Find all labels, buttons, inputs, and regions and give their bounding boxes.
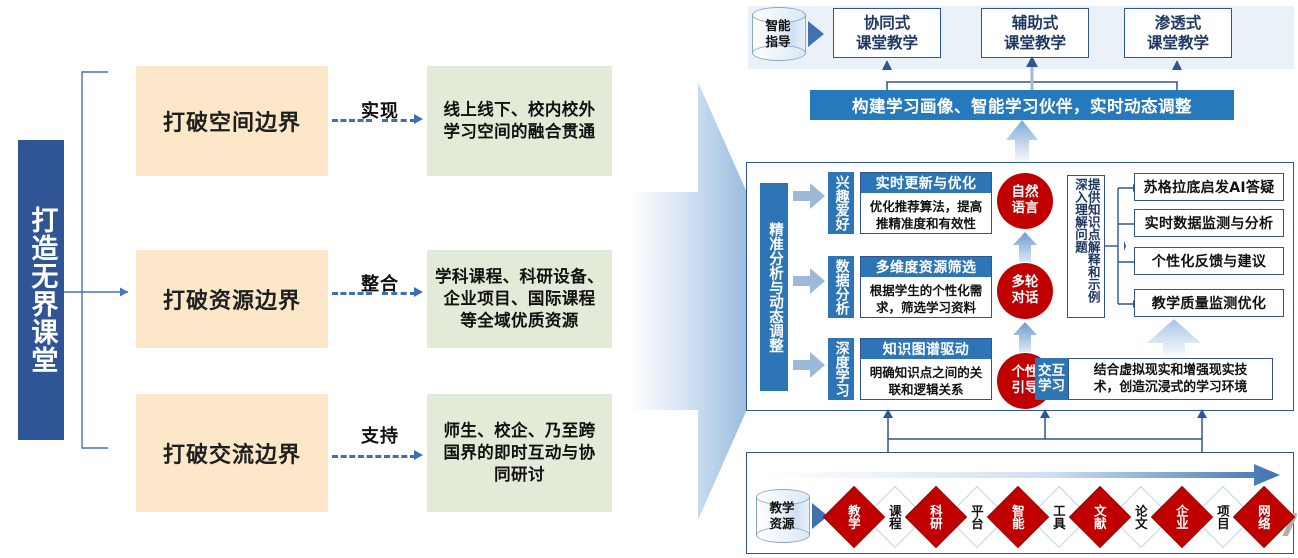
mid-left-bar-label: 精准分析与动态调整	[760, 183, 788, 391]
resource-diamond-3[interactable]: 科研	[905, 486, 967, 548]
output-box-2[interactable]: 实时数据监测与分析	[1134, 209, 1284, 237]
fat-arrow-icon-1	[793, 183, 825, 209]
relation-dash-right-1	[382, 119, 416, 122]
stage-card-2[interactable]: 多维度资源筛选 根据学生的个性化需 求，筛选学习资料	[860, 256, 992, 318]
resource-row: 教学课程科研平台智能工具文献论文企业项目网络	[832, 494, 1288, 540]
interactive-up-arrow-icon	[1145, 319, 1203, 359]
teaching-mode-box-3[interactable]: 渗透式 课堂教学	[1124, 8, 1232, 58]
resource-diamond-label: 教学	[847, 505, 860, 530]
relation-arrowhead-2	[414, 287, 423, 297]
stage-card-body-2: 根据学生的个性化需 求，筛选学习资料	[861, 277, 991, 323]
gradient-right-arrow-icon	[768, 462, 1280, 488]
teaching-mode-box-2[interactable]: 辅助式 课堂教学	[981, 8, 1089, 58]
resource-diamond-label: 项目	[1216, 505, 1229, 530]
topic-box-2[interactable]: 打破资源边界	[136, 250, 328, 348]
stage-card-title-3: 知识图谱驱动	[861, 339, 991, 359]
output-box-1[interactable]: 苏格拉底启发AI答疑	[1134, 173, 1284, 201]
relation-dash-3	[332, 455, 416, 458]
resource-diamond-label: 文献	[1093, 505, 1106, 530]
resource-diamond-7[interactable]: 文献	[1069, 486, 1131, 548]
stage-card-title-1: 实时更新与优化	[861, 173, 991, 193]
source-cylinder-label: 智能 指导	[752, 7, 804, 61]
resource-diamond-label: 智能	[1011, 505, 1024, 530]
interactive-body: 结合虚拟现实和增强现实技 术，创造沉浸式的学习环境	[1068, 358, 1273, 400]
relation-arrowhead-1	[414, 114, 423, 124]
outcome-box-1[interactable]: 线上线下、校内校外 学习空间的融合贯通	[427, 66, 612, 176]
resource-diamond-label: 课程	[888, 505, 901, 530]
stage-card-body-1: 优化推荐算法，提高 推精准度和有效性	[861, 193, 991, 239]
stage-tag-3[interactable]: 深度学习	[828, 338, 854, 400]
resource-diamond-label: 网络	[1257, 505, 1270, 530]
stage-card-body-3: 明确知识点之间的关 联和逻辑关系	[861, 359, 991, 405]
fat-arrow-icon-2	[793, 268, 825, 294]
resource-diamond-label: 工具	[1052, 505, 1065, 530]
stage-tag-2[interactable]: 数据分析	[828, 256, 854, 318]
stage-card-title-2: 多维度资源筛选	[861, 257, 991, 277]
resource-cylinder-icon: 教学 资源	[756, 489, 808, 543]
chevron-right-icon	[808, 21, 824, 47]
ability-up-arrow-icon-1	[1012, 232, 1038, 262]
relation-arrowhead-3	[414, 450, 423, 460]
fat-arrow-icon-3	[793, 352, 825, 378]
topic-box-1[interactable]: 打破空间边界	[136, 66, 328, 176]
vertical-note-label: 提供知识点解释和示例深入理解问题	[1067, 175, 1105, 318]
resource-diamond-label: 平台	[970, 505, 983, 530]
ability-circle-2[interactable]: 多轮 对话	[997, 263, 1053, 319]
stage-card-3[interactable]: 知识图谱驱动 明确知识点之间的关 联和逻辑关系	[860, 338, 992, 400]
resource-diamond-label: 科研	[929, 505, 942, 530]
page-title: 打造无界课堂	[18, 140, 64, 440]
interactive-tag[interactable]: 交互学习	[1035, 358, 1068, 400]
topic-box-3[interactable]: 打破交流边界	[136, 394, 328, 512]
output-box-3[interactable]: 个性化反馈与建议	[1134, 247, 1284, 275]
stage-card-1[interactable]: 实时更新与优化 优化推荐算法，提高 推精准度和有效性	[860, 172, 992, 234]
resource-diamond-9[interactable]: 企业	[1151, 486, 1213, 548]
resource-diamond-label: 企业	[1175, 505, 1188, 530]
ability-circle-1[interactable]: 自然 语言	[997, 173, 1053, 229]
teaching-mode-box-1[interactable]: 协同式 课堂教学	[833, 8, 941, 58]
outcome-box-2[interactable]: 学科课程、科研设备、 企业项目、国际课程 等全域优质资源	[427, 250, 612, 348]
left-bracket-connector	[62, 60, 142, 480]
relation-label-3: 支持	[345, 423, 415, 447]
resource-cylinder-label: 教学 资源	[756, 489, 808, 543]
resource-diamond-label: 论文	[1134, 505, 1147, 530]
relation-dash-right-2	[382, 292, 416, 295]
output-box-4[interactable]: 教学质量监测优化	[1134, 289, 1284, 317]
outcome-box-3[interactable]: 师生、校企、乃至跨 国界的即时互动与协 同研讨	[427, 394, 612, 512]
ability-up-arrow-icon-2	[1012, 322, 1038, 352]
source-cylinder-icon: 智能 指导	[752, 7, 804, 61]
banner-to-modes-connector	[810, 56, 1240, 94]
banner-label: 构建学习画像、智能学习伙伴，实时动态调整	[810, 90, 1234, 120]
resource-diamond-5[interactable]: 智能	[987, 486, 1049, 548]
midpanel-to-banner-arrow-icon	[1002, 120, 1042, 164]
stage-tag-1[interactable]: 兴趣爱好	[828, 172, 854, 234]
resource-diamond-1[interactable]: 教学	[823, 486, 885, 548]
bottom-to-mid-connector	[880, 409, 1210, 455]
